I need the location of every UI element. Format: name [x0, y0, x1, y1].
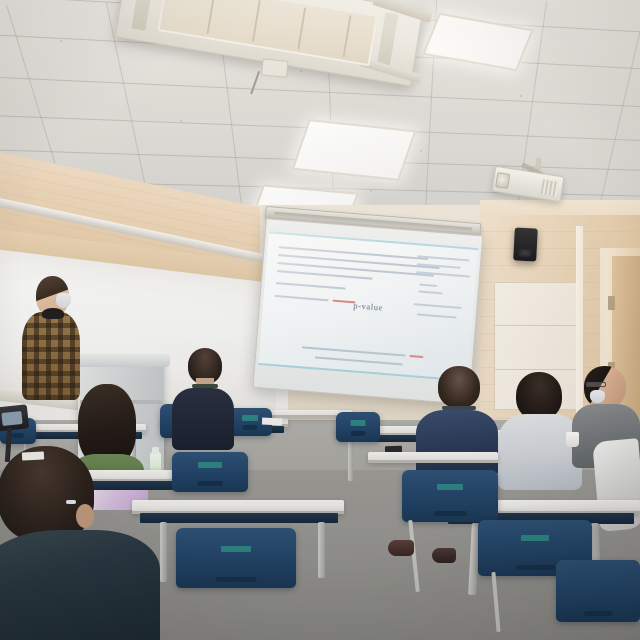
chair[interactable]	[176, 528, 296, 588]
chair-logo	[242, 415, 258, 421]
presenter-collar	[42, 308, 64, 319]
attendee-left-front	[0, 446, 170, 640]
attendee-glasses-icon	[586, 382, 606, 387]
attendee-face-mask	[590, 390, 605, 403]
attendee-right-center	[496, 372, 582, 490]
attendee-torso	[0, 530, 160, 640]
wall-speaker	[513, 227, 538, 261]
papers	[262, 417, 282, 425]
table-leg	[348, 441, 353, 481]
projector-vent-icon	[541, 179, 559, 196]
papers	[22, 451, 44, 460]
attendee-front-center	[168, 348, 238, 448]
chair-logo	[521, 535, 549, 541]
chair[interactable]	[556, 560, 640, 622]
training-table	[368, 452, 498, 463]
chair-logo	[221, 546, 251, 552]
door-hinge-icon	[608, 296, 615, 310]
attendee-ear	[76, 504, 94, 528]
camera-screen	[1, 411, 22, 426]
projector-lens-icon	[495, 172, 510, 189]
slide-content: p-value	[258, 231, 478, 381]
attendee-torso	[498, 414, 582, 490]
presenter-face-mask	[56, 293, 71, 308]
ac-sensor-icon	[261, 58, 289, 77]
chair[interactable]	[172, 452, 248, 492]
attendee-mask-strap	[66, 500, 76, 504]
shoe	[432, 548, 456, 563]
chair-logo	[198, 462, 222, 468]
attendee-head	[584, 366, 626, 408]
attendee-torso	[172, 388, 234, 450]
attendee-head	[0, 446, 94, 542]
ceiling-light-panel	[292, 119, 417, 181]
lecture-room-photo: p-value	[0, 0, 640, 640]
attendee-torso	[416, 410, 498, 478]
chair-logo	[437, 484, 463, 490]
chair-logo	[351, 420, 366, 426]
shoe	[388, 540, 414, 556]
chair[interactable]	[336, 412, 380, 442]
table-leg	[318, 522, 325, 578]
paper-cup	[566, 432, 579, 447]
chair[interactable]	[402, 470, 498, 522]
slide-title: p-value	[263, 293, 473, 320]
attendee-head	[516, 372, 562, 420]
attendee-head	[438, 366, 480, 408]
